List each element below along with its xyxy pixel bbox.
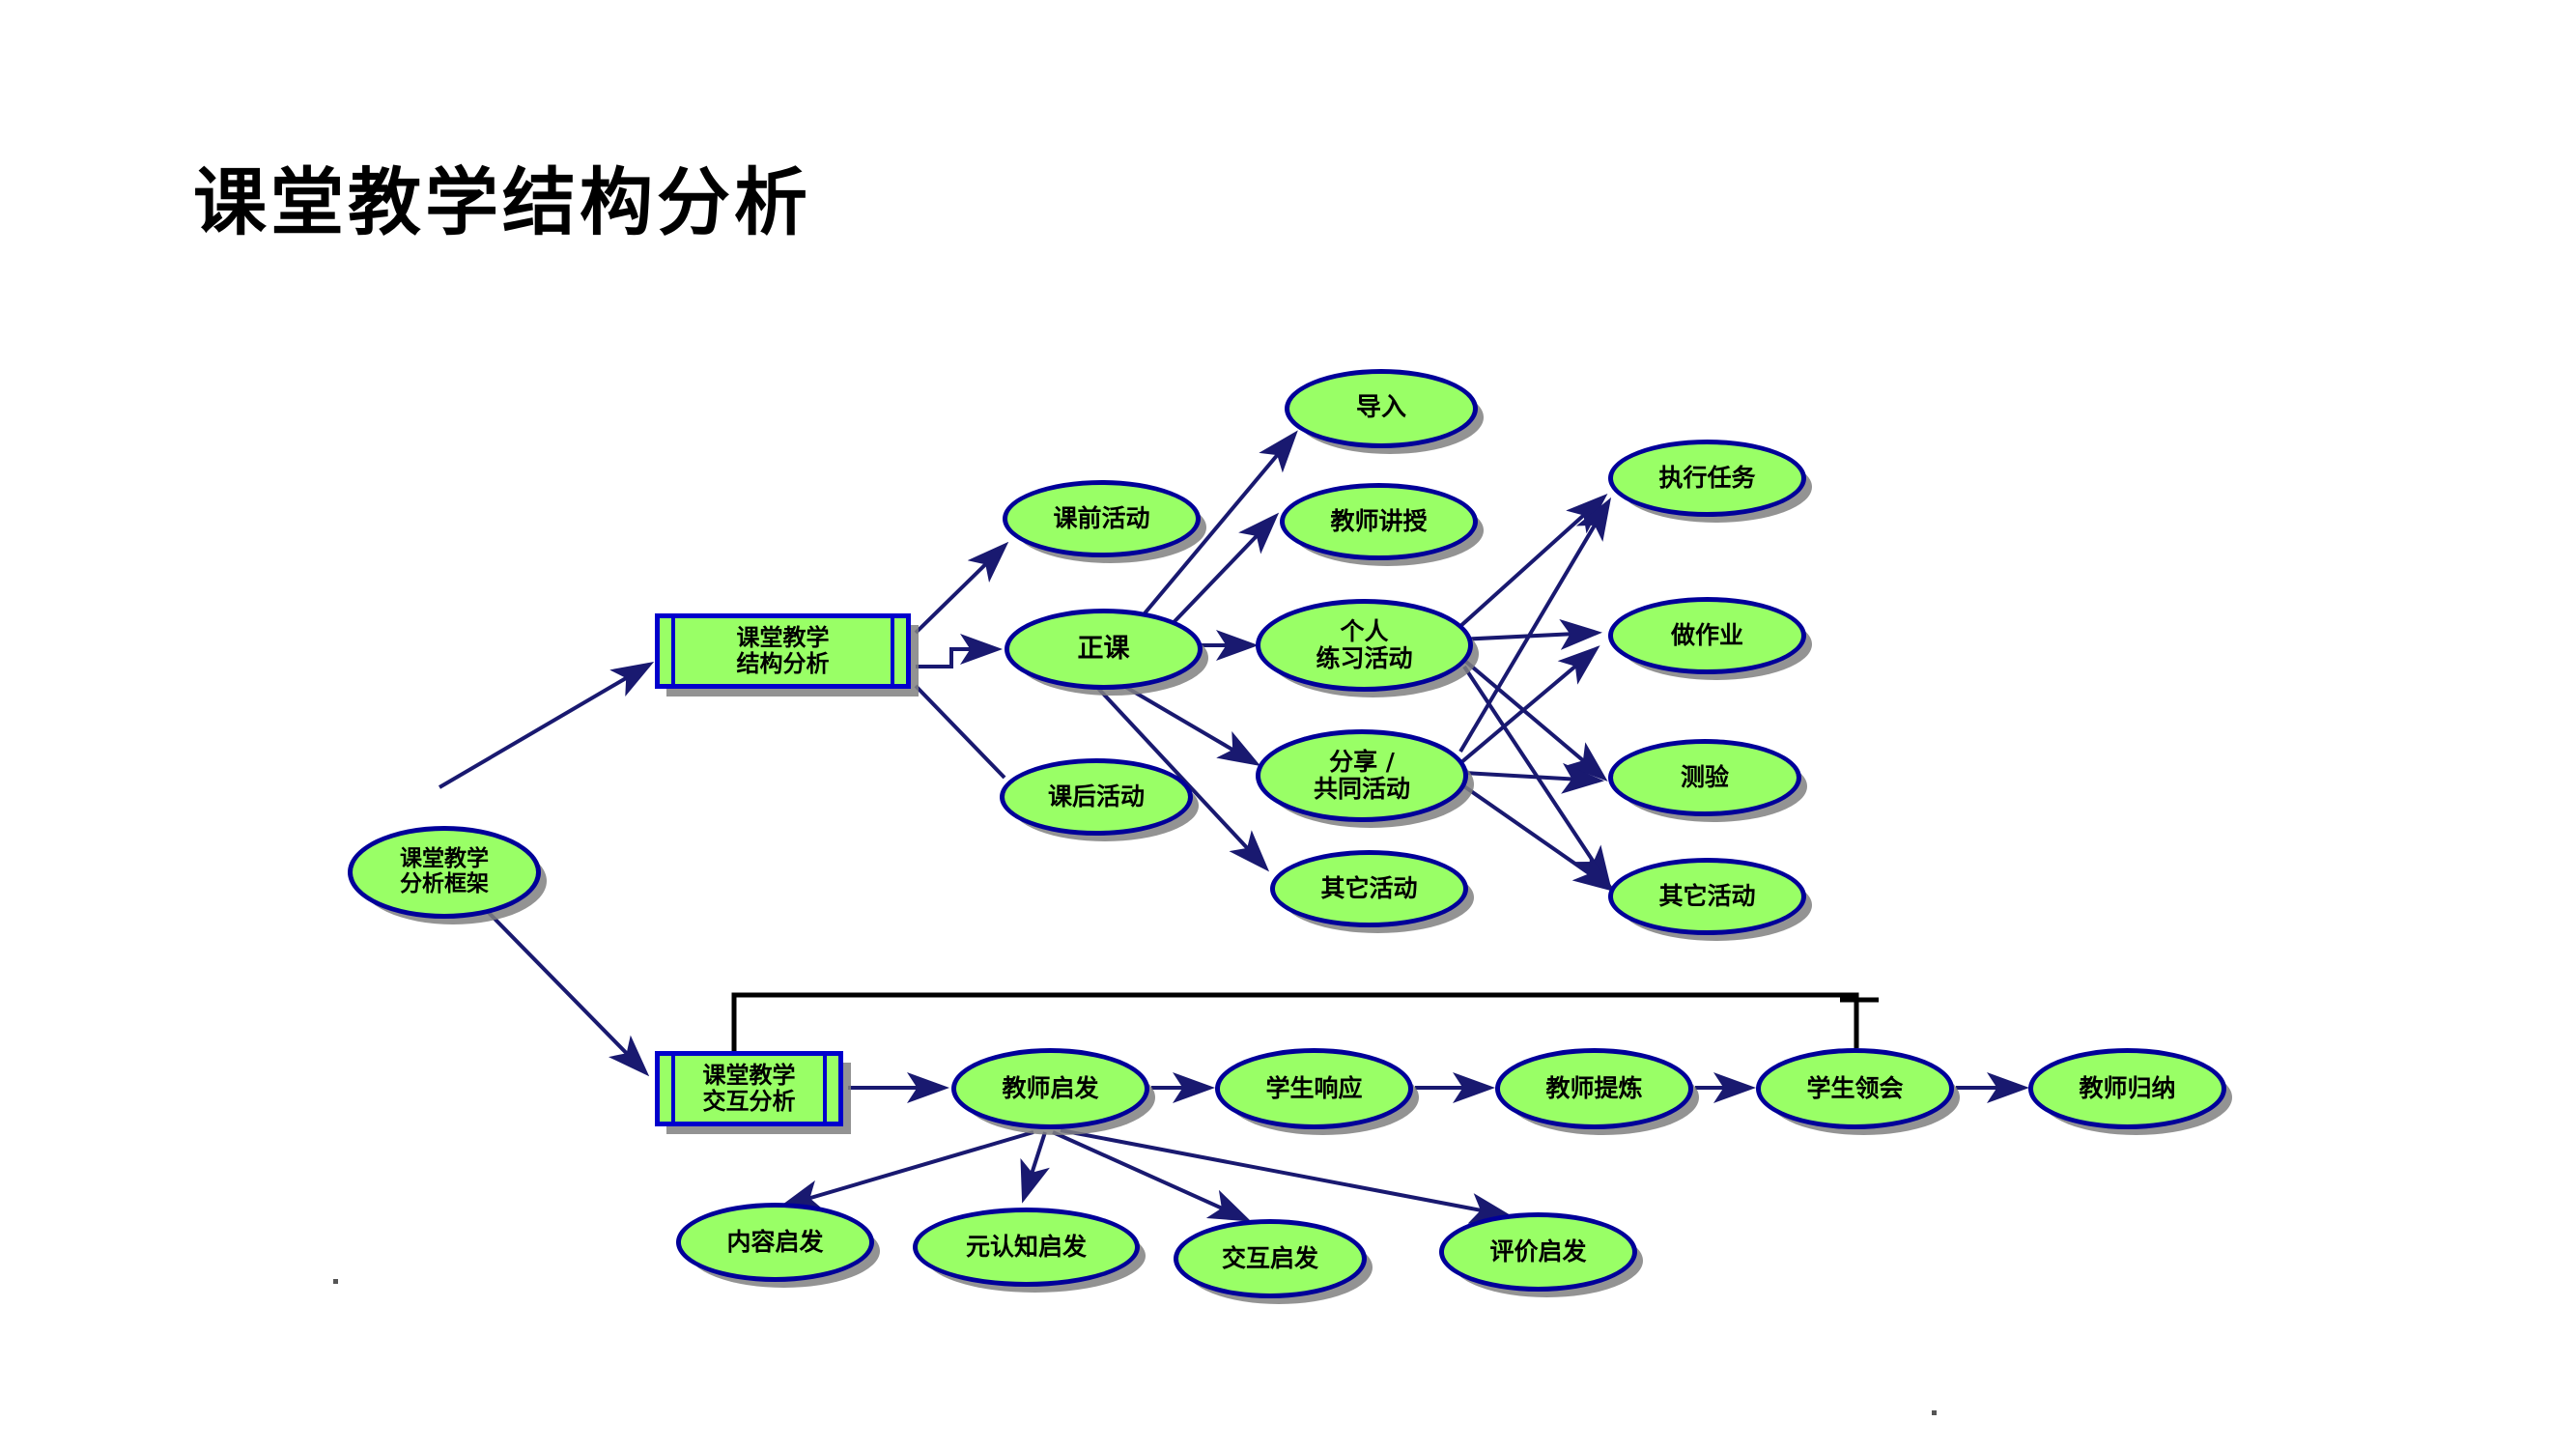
- diagram-node-label: 课堂教学 结构分析: [737, 625, 830, 677]
- diagram-node-other_right[interactable]: 其它活动: [1608, 858, 1806, 935]
- diagram-node-label: 正课: [1078, 635, 1130, 664]
- diagram-node-respond[interactable]: 学生响应: [1215, 1048, 1413, 1129]
- diagram-node-label: 课后活动: [1048, 783, 1145, 810]
- diagram-node-post[interactable]: 课后活动: [1000, 758, 1193, 836]
- diagram-node-root[interactable]: 课堂教学 分析框架: [348, 826, 541, 919]
- diagram-node-label: 导入: [1356, 394, 1406, 422]
- diagram-node-label: 个人 练习活动: [1316, 618, 1412, 672]
- slide-canvas: 课堂教学结构分析: [0, 0, 2576, 1450]
- diagram-node-summarize[interactable]: 教师归纳: [2028, 1048, 2226, 1129]
- diagram-node-label: 评价启发: [1489, 1238, 1586, 1265]
- diagram-node-label: 教师讲授: [1330, 508, 1427, 535]
- diagram-node-label: 内容启发: [726, 1229, 823, 1256]
- edge-group-structure: [916, 546, 1005, 667]
- diagram-node-lead[interactable]: 导入: [1285, 369, 1478, 448]
- diagram-node-label: 其它活动: [1658, 883, 1755, 910]
- diagram-node-label: 教师启发: [1002, 1075, 1098, 1102]
- diagram-node-label: 执行任务: [1658, 465, 1755, 492]
- diagram-node-label: 课堂教学 分析框架: [400, 847, 489, 897]
- diagram-node-struct[interactable]: 课堂教学 结构分析: [655, 613, 911, 689]
- diagram-node-label: 教师提炼: [1545, 1075, 1642, 1102]
- edge-group-inspire-fanout: [784, 1130, 1507, 1219]
- diagram-node-inter_ins[interactable]: 交互启发: [1174, 1219, 1367, 1298]
- diagram-node-pre[interactable]: 课前活动: [1003, 480, 1201, 557]
- diagram-node-main[interactable]: 正课: [1005, 609, 1203, 690]
- diagram-node-inspire[interactable]: 教师启发: [951, 1048, 1149, 1129]
- diagram-node-label: 交互启发: [1222, 1245, 1318, 1272]
- diagram-node-label: 做作业: [1671, 622, 1743, 649]
- decorative-dot-right: [1932, 1410, 1937, 1415]
- diagram-node-label: 测验: [1681, 764, 1729, 791]
- diagram-node-content_ins[interactable]: 内容启发: [676, 1203, 874, 1282]
- diagram-node-comprehend[interactable]: 学生领会: [1756, 1048, 1954, 1129]
- edge-group-individual-fanout: [1458, 498, 1608, 884]
- edge-feedback-loop: [734, 995, 1856, 1051]
- diagram-node-other_mid[interactable]: 其它活动: [1270, 850, 1468, 927]
- diagram-node-eval_ins[interactable]: 评价启发: [1439, 1212, 1637, 1292]
- diagram-node-label: 学生响应: [1265, 1075, 1362, 1102]
- diagram-node-label: 课堂教学 交互分析: [703, 1063, 796, 1115]
- diagram-node-homework[interactable]: 做作业: [1608, 597, 1806, 674]
- diagram-node-share[interactable]: 分享 / 共同活动: [1256, 729, 1468, 822]
- diagram-node-label: 其它活动: [1320, 875, 1417, 902]
- diagram-node-quiz[interactable]: 测验: [1608, 739, 1801, 816]
- diagram-node-label: 学生领会: [1806, 1075, 1903, 1102]
- decorative-dot-left: [333, 1279, 338, 1284]
- diagram-node-label: 元认知启发: [966, 1234, 1087, 1261]
- diagram-node-lecture[interactable]: 教师讲授: [1280, 483, 1478, 560]
- diagram-node-task[interactable]: 执行任务: [1608, 440, 1806, 517]
- diagram-node-meta_ins[interactable]: 元认知启发: [913, 1208, 1140, 1287]
- diagram-node-individual[interactable]: 个人 练习活动: [1256, 599, 1473, 692]
- diagram-node-label: 课前活动: [1053, 505, 1149, 532]
- diagram-node-interact[interactable]: 课堂教学 交互分析: [655, 1051, 843, 1126]
- diagram-node-refine[interactable]: 教师提炼: [1495, 1048, 1693, 1129]
- edge-struct-to-post: [916, 686, 1005, 778]
- diagram-node-label: 教师归纳: [2079, 1075, 2175, 1102]
- diagram-node-label: 分享 / 共同活动: [1314, 749, 1410, 803]
